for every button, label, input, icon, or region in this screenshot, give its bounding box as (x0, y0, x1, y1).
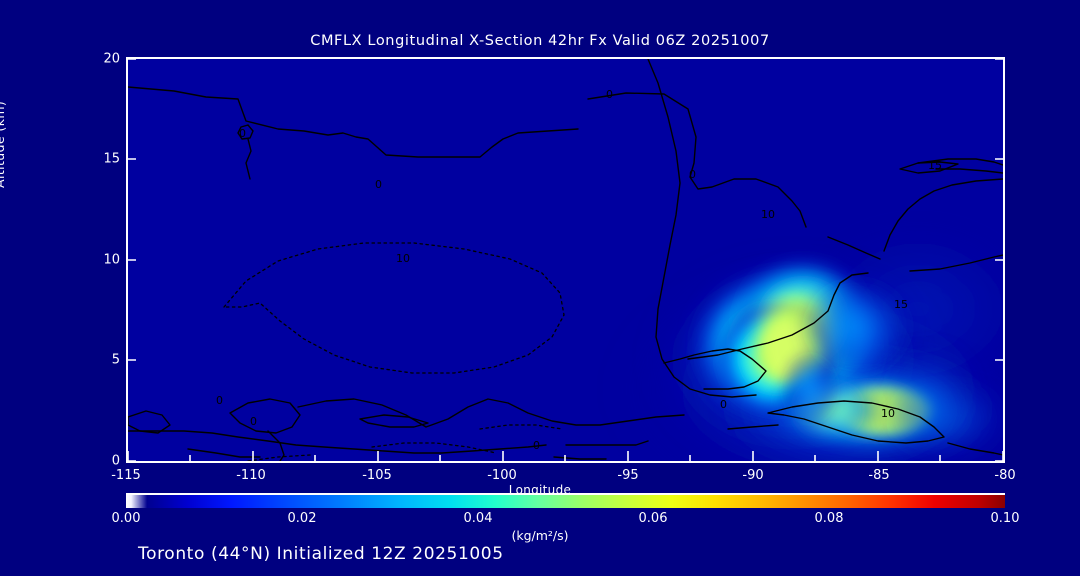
colorbar-units: (kg/m²/s) (0, 528, 1080, 543)
contour-label: 0 (720, 398, 727, 411)
y-tick: 20 (60, 52, 120, 67)
y-tick: 0 (60, 454, 120, 469)
colorbar (126, 495, 1005, 508)
contour-label: 0 (250, 415, 257, 428)
contour-label: 10 (761, 208, 775, 221)
x-tick: -105 (337, 468, 417, 483)
x-tick: -110 (211, 468, 291, 483)
colorbar-tick: 0.04 (438, 511, 518, 526)
colorbar-ticks: 0.00 0.02 0.04 0.06 0.08 0.10 (126, 511, 1005, 529)
colorbar-tick: 0.08 (789, 511, 869, 526)
contour-label: 15 (928, 159, 942, 172)
cross-section-field: 0 0 10 0 0 10 15 15 0 10 0 0 0 (128, 59, 1003, 461)
y-tick: 10 (60, 253, 120, 268)
contour-label: 10 (396, 252, 410, 265)
contour-label: 0 (606, 88, 613, 101)
x-tick: -85 (839, 468, 919, 483)
x-tick: -100 (462, 468, 542, 483)
contour-label: 10 (881, 407, 895, 420)
contour-label: 0 (375, 178, 382, 191)
y-tick: 15 (60, 152, 120, 167)
figure-footer: Toronto (44°N) Initialized 12Z 20251005 (138, 544, 504, 564)
y-axis-label: Altitude (km) (0, 101, 7, 188)
x-tick: -80 (965, 468, 1045, 483)
colorbar-tick: 0.00 (86, 511, 166, 526)
contour-label: 0 (216, 394, 223, 407)
contour-label: 0 (239, 127, 246, 140)
x-tick: -95 (588, 468, 668, 483)
contour-label: 15 (894, 298, 908, 311)
x-tick: -115 (86, 468, 166, 483)
colorbar-tick: 0.06 (613, 511, 693, 526)
colorbar-tick: 0.10 (965, 511, 1045, 526)
contour-label: 0 (533, 439, 540, 452)
plot-area: 0 0 10 0 0 10 15 15 0 10 0 0 0 (126, 57, 1005, 463)
y-axis-ticks: 20 15 10 5 0 (48, 57, 120, 463)
contour-label: 0 (689, 168, 696, 181)
chart-title: CMFLX Longitudinal X-Section 42hr Fx Val… (0, 33, 1080, 49)
colorbar-tick: 0.02 (262, 511, 342, 526)
x-tick: -90 (713, 468, 793, 483)
figure-canvas: CMFLX Longitudinal X-Section 42hr Fx Val… (0, 0, 1080, 576)
y-tick: 5 (60, 353, 120, 368)
